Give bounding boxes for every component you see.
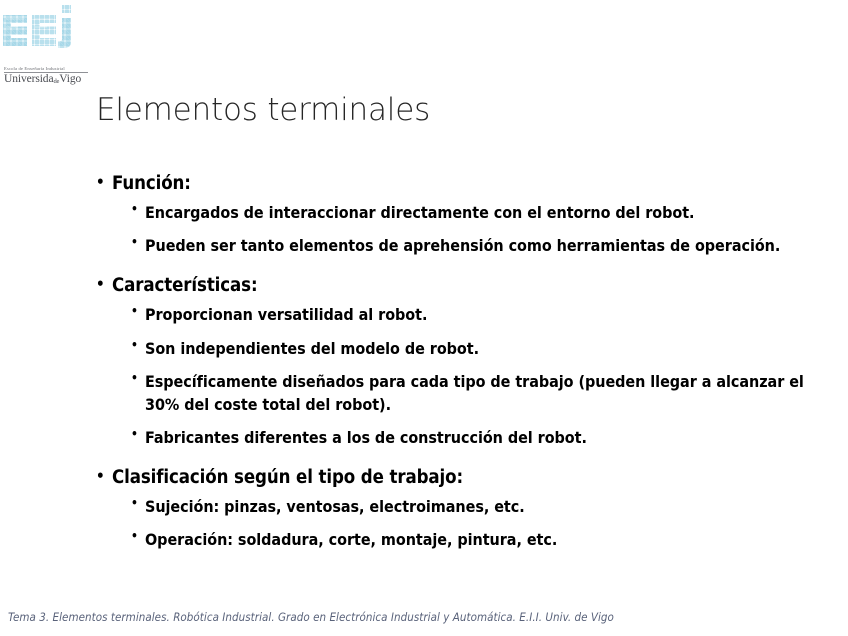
slide-body: • Función: • Encargados de interaccionar…: [96, 172, 820, 552]
bullet-text: Fabricantes diferentes a los de construc…: [145, 426, 587, 449]
bullet-text: Sujeción: pinzas, ventosas, electroimane…: [145, 495, 525, 518]
bullet-marker-icon: •: [131, 426, 145, 443]
university-name: UniversidadeVigo: [2, 73, 94, 86]
bullet-marker-icon: •: [96, 172, 112, 192]
bullet-level2: • Pueden ser tanto elementos de aprehens…: [96, 234, 820, 257]
bullet-level2: • Encargados de interaccionar directamen…: [96, 201, 820, 224]
bullet-text: Específicamente diseñados para cada tipo…: [145, 370, 820, 416]
bullet-text: Clasificación según el tipo de trabajo:: [112, 466, 463, 491]
university-name-end: Vigo: [59, 73, 81, 85]
bullet-level1: • Función:: [96, 172, 820, 197]
slide-footer: Tema 3. Elementos terminales. Robótica I…: [8, 610, 614, 624]
bullet-text: Características:: [112, 274, 258, 299]
eei-letter-e1: [3, 15, 27, 46]
bullet-marker-icon: •: [131, 201, 145, 218]
slide-canvas: Escola de Enxeñaría Industrial Universid…: [0, 0, 848, 636]
uvigo-wordmark: Escola de Enxeñaría Industrial Universid…: [2, 66, 94, 86]
bullet-level1: • Características:: [96, 274, 820, 299]
bullet-text: Proporcionan versatilidad al robot.: [145, 303, 427, 326]
bullet-marker-icon: •: [96, 466, 112, 486]
bullet-level2: • Específicamente diseñados para cada ti…: [96, 370, 820, 416]
page-title: Elementos terminales: [96, 91, 430, 130]
bullet-level2: • Fabricantes diferentes a los de constr…: [96, 426, 820, 449]
bullet-level2: • Son independientes del modelo de robot…: [96, 337, 820, 360]
bullet-marker-icon: •: [131, 528, 145, 545]
school-name-line: Escola de Enxeñaría Industrial: [2, 66, 94, 71]
bullet-level2: • Proporcionan versatilidad al robot.: [96, 303, 820, 326]
bullet-group: • Características: • Proporcionan versat…: [96, 274, 820, 449]
bullet-marker-icon: •: [96, 274, 112, 294]
bullet-text: Son independientes del modelo de robot.: [145, 337, 479, 360]
bullet-group: • Función: • Encargados de interaccionar…: [96, 172, 820, 257]
bullet-group: • Clasificación según el tipo de trabajo…: [96, 466, 820, 551]
bullet-level2: • Operación: soldadura, corte, montaje, …: [96, 528, 820, 551]
bullet-marker-icon: •: [131, 370, 145, 387]
institution-logo-block: Escola de Enxeñaría Industrial Universid…: [2, 2, 94, 86]
eei-letter-e2: [32, 15, 56, 46]
bullet-marker-icon: •: [131, 234, 145, 251]
bullet-text: Función:: [112, 172, 191, 197]
eei-letter-i: [58, 5, 71, 48]
bullet-marker-icon: •: [131, 337, 145, 354]
bullet-level1: • Clasificación según el tipo de trabajo…: [96, 466, 820, 491]
bullet-marker-icon: •: [131, 495, 145, 512]
bullet-text: Encargados de interaccionar directamente…: [145, 201, 694, 224]
university-name-main: Universida: [4, 73, 53, 85]
eei-logo-icon: [2, 2, 90, 62]
bullet-text: Operación: soldadura, corte, montaje, pi…: [145, 528, 557, 551]
bullet-level2: • Sujeción: pinzas, ventosas, electroima…: [96, 495, 820, 518]
bullet-text: Pueden ser tanto elementos de aprehensió…: [145, 234, 780, 257]
bullet-marker-icon: •: [131, 303, 145, 320]
